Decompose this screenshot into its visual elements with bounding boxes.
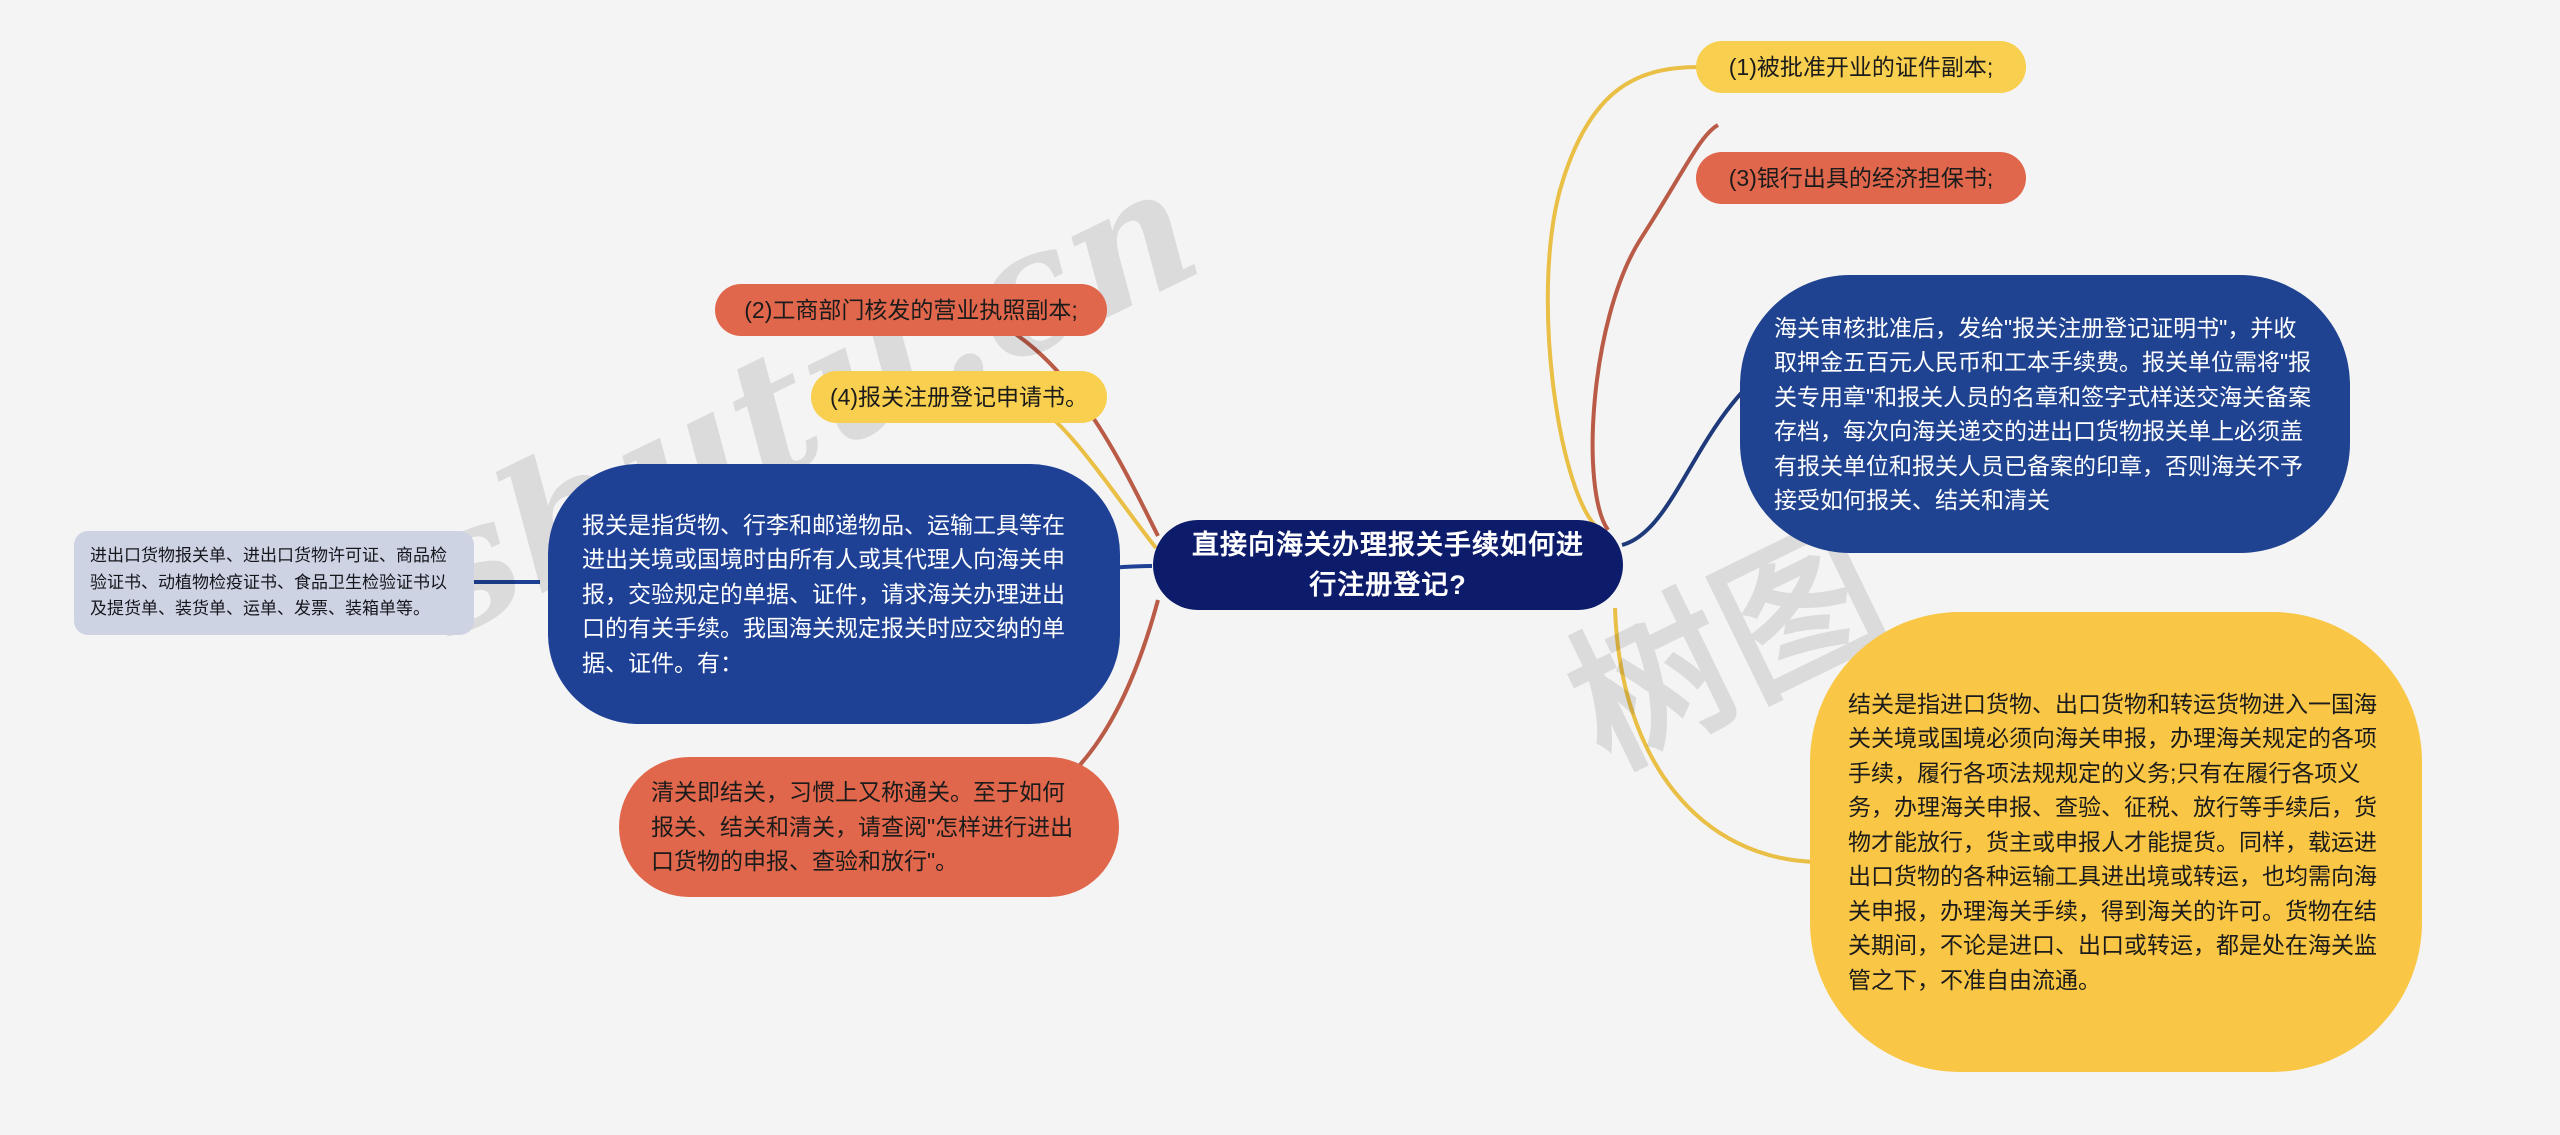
node-documents-list[interactable]: 进出口货物报关单、进出口货物许可证、商品检验证书、动植物检疫证书、食品卫生检验证… (74, 531, 474, 635)
link-root-to-approved-cert (1548, 67, 1700, 530)
node-bank-guarantee[interactable]: (3)银行出具的经济担保书; (1696, 152, 2026, 204)
node-customs-approval[interactable]: 海关审核批准后，发给"报关注册登记证明书"，并收取押金五百元人民币和工本手续费。… (1740, 275, 2350, 553)
node-declaration-definition[interactable]: 报关是指货物、行李和邮递物品、运输工具等在进出关境或国境时由所有人或其代理人向海… (548, 464, 1120, 724)
root-node[interactable]: 直接向海关办理报关手续如何进行注册登记? (1153, 520, 1623, 610)
node-clearance-definition[interactable]: 清关即结关，习惯上又称通关。至于如何报关、结关和清关，请查阅"怎样进行进出口货物… (619, 757, 1119, 897)
mindmap-canvas: shutu.cn 树图 直接向海关办理报关手续如何进行注册登记? (1)被批准开… (0, 0, 2560, 1135)
node-business-license[interactable]: (2)工商部门核发的营业执照副本; (715, 284, 1107, 336)
node-registration-application[interactable]: (4)报关注册登记申请书。 (811, 371, 1107, 423)
link-root-to-closing-definition (1615, 608, 1818, 862)
node-closing-definition[interactable]: 结关是指进口货物、出口货物和转运货物进入一国海关关境或国境必须向海关申报，办理海… (1810, 612, 2422, 1072)
node-approved-cert[interactable]: (1)被批准开业的证件副本; (1696, 41, 2026, 93)
